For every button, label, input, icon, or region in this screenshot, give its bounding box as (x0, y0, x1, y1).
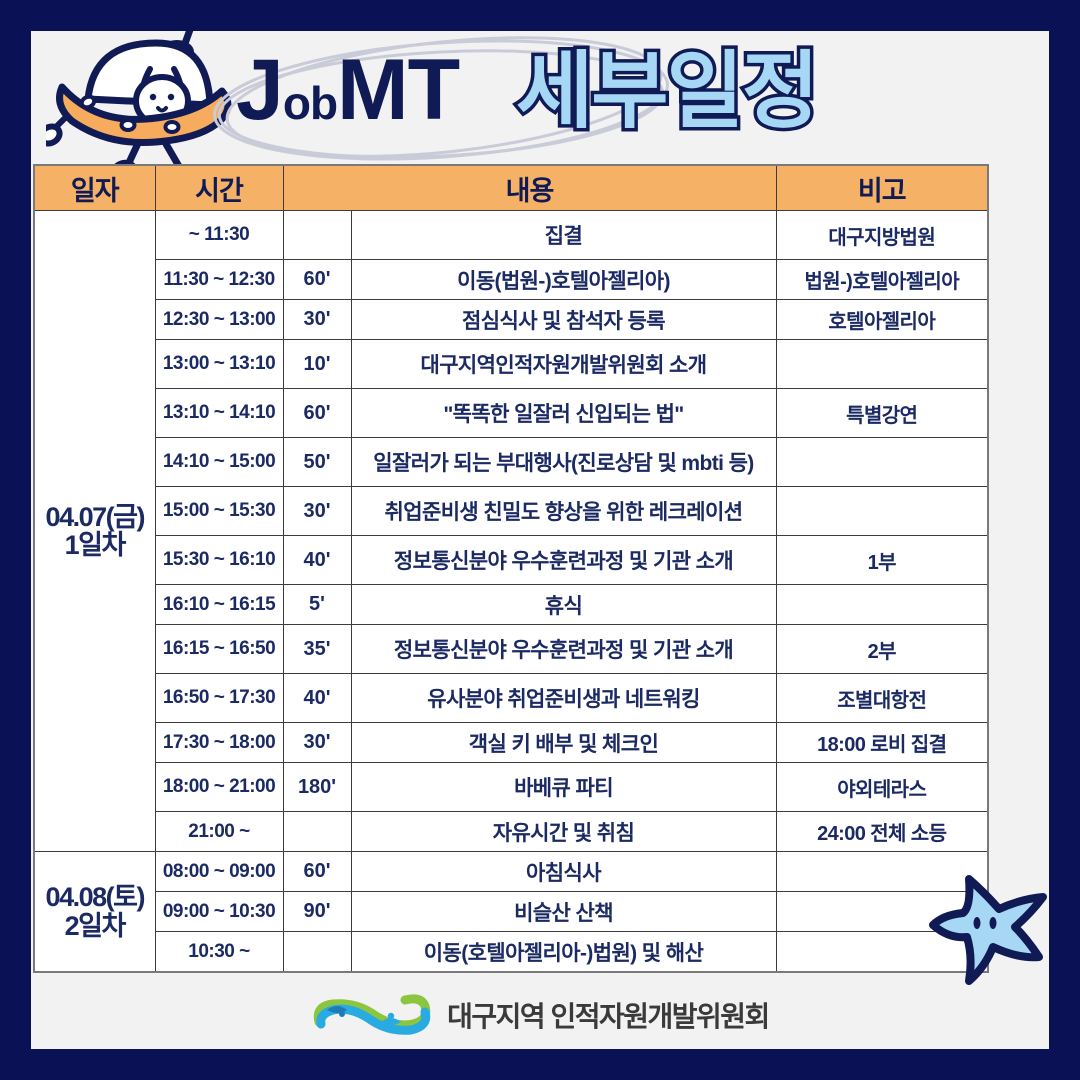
date-line-2: 2일차 (37, 912, 153, 940)
table-row: 10:30 ~이동(호텔아젤리아-)법원) 및 해산 (34, 932, 988, 973)
footer-organization: 대구지역 인적자원개발위원회 (447, 995, 769, 1035)
duration-cell: 40' (283, 674, 351, 723)
content-cell: 자유시간 및 취침 (351, 812, 776, 852)
time-cell: 17:30 ~ 18:00 (155, 723, 283, 763)
content-cell: 취업준비생 친밀도 향상을 위한 레크레이션 (351, 487, 776, 536)
jobmt-ob: ob (283, 77, 337, 129)
jobmt-mt: MT (337, 42, 459, 138)
note-cell: 18:00 로비 집결 (776, 723, 988, 763)
time-cell: 16:10 ~ 16:15 (155, 585, 283, 625)
time-cell: 12:30 ~ 13:00 (155, 300, 283, 340)
content-cell: 집결 (351, 211, 776, 260)
time-cell: ~ 11:30 (155, 211, 283, 260)
poster-root: JobMT 세부일정 일자 시간 내용 비고 04.07(금)1일차~ 1 (0, 0, 1080, 1080)
time-cell: 13:10 ~ 14:10 (155, 389, 283, 438)
date-line-1: 04.08(토) (37, 883, 153, 911)
time-cell: 21:00 ~ (155, 812, 283, 852)
time-cell: 15:00 ~ 15:30 (155, 487, 283, 536)
jobmt-j: J (236, 42, 283, 138)
content-cell: 이동(법원-)호텔아젤리아) (351, 260, 776, 300)
note-cell: 24:00 전체 소등 (776, 812, 988, 852)
note-cell: 호텔아젤리아 (776, 300, 988, 340)
time-cell: 11:30 ~ 12:30 (155, 260, 283, 300)
infinity-logo-icon (311, 992, 433, 1038)
time-cell: 16:50 ~ 17:30 (155, 674, 283, 723)
note-cell (776, 487, 988, 536)
duration-cell: 60' (283, 389, 351, 438)
date-cell: 04.07(금)1일차 (34, 211, 155, 852)
time-cell: 18:00 ~ 21:00 (155, 763, 283, 812)
table-row: 15:30 ~ 16:1040'정보통신분야 우수훈련과정 및 기관 소개1부 (34, 536, 988, 585)
table-row: 14:10 ~ 15:0050'일잘러가 되는 부대행사(진로상담 및 mbti… (34, 438, 988, 487)
content-cell: 정보통신분야 우수훈련과정 및 기관 소개 (351, 625, 776, 674)
duration-cell: 40' (283, 536, 351, 585)
content-cell: 유사분야 취업준비생과 네트워킹 (351, 674, 776, 723)
poster-inner-panel: JobMT 세부일정 일자 시간 내용 비고 04.07(금)1일차~ 1 (31, 31, 1049, 1049)
content-cell: 점심식사 및 참석자 등록 (351, 300, 776, 340)
table-row: 21:00 ~자유시간 및 취침24:00 전체 소등 (34, 812, 988, 852)
duration-cell: 10' (283, 340, 351, 389)
content-cell: 이동(호텔아젤리아-)법원) 및 해산 (351, 932, 776, 973)
time-cell: 13:00 ~ 13:10 (155, 340, 283, 389)
time-cell: 10:30 ~ (155, 932, 283, 973)
note-cell (776, 585, 988, 625)
note-cell: 야외테라스 (776, 763, 988, 812)
time-cell: 15:30 ~ 16:10 (155, 536, 283, 585)
header-content: 내용 (283, 165, 776, 211)
content-cell: 아침식사 (351, 852, 776, 892)
content-cell: 바베큐 파티 (351, 763, 776, 812)
table-row: 09:00 ~ 10:3090'비슬산 산책 (34, 892, 988, 932)
table-row: 16:10 ~ 16:155'휴식 (34, 585, 988, 625)
title-group: JobMT 세부일정 (206, 33, 856, 163)
table-row: 04.07(금)1일차~ 11:30집결대구지방법원 (34, 211, 988, 260)
date-line-1: 04.07(금) (37, 503, 153, 531)
note-cell (776, 340, 988, 389)
header-note: 비고 (776, 165, 988, 211)
content-cell: 객실 키 배부 및 체크인 (351, 723, 776, 763)
note-cell: 2부 (776, 625, 988, 674)
content-cell: 비슬산 산책 (351, 892, 776, 932)
schedule-table-wrap: 일자 시간 내용 비고 04.07(금)1일차~ 11:30집결대구지방법원11… (33, 164, 987, 973)
star-icon (927, 863, 1049, 991)
note-cell (776, 438, 988, 487)
duration-cell: 30' (283, 723, 351, 763)
duration-cell: 60' (283, 260, 351, 300)
time-cell: 09:00 ~ 10:30 (155, 892, 283, 932)
page-title: 세부일정 (516, 49, 817, 133)
poster-header: JobMT 세부일정 (31, 31, 1049, 163)
table-row: 15:00 ~ 15:3030'취업준비생 친밀도 향상을 위한 레크레이션 (34, 487, 988, 536)
content-cell: 정보통신분야 우수훈련과정 및 기관 소개 (351, 536, 776, 585)
header-time: 시간 (155, 165, 283, 211)
duration-cell: 5' (283, 585, 351, 625)
duration-cell: 60' (283, 852, 351, 892)
table-row: 11:30 ~ 12:3060'이동(법원-)호텔아젤리아)법원-)호텔아젤리아 (34, 260, 988, 300)
duration-cell: 35' (283, 625, 351, 674)
table-row: 16:50 ~ 17:3040'유사분야 취업준비생과 네트워킹조별대항전 (34, 674, 988, 723)
time-cell: 08:00 ~ 09:00 (155, 852, 283, 892)
duration-cell: 30' (283, 300, 351, 340)
duration-cell (283, 812, 351, 852)
time-cell: 14:10 ~ 15:00 (155, 438, 283, 487)
duration-cell: 30' (283, 487, 351, 536)
note-cell: 1부 (776, 536, 988, 585)
date-cell: 04.08(토)2일차 (34, 852, 155, 973)
duration-cell (283, 211, 351, 260)
content-cell: 휴식 (351, 585, 776, 625)
date-line-2: 1일차 (37, 531, 153, 559)
note-cell: 특별강연 (776, 389, 988, 438)
note-cell: 대구지방법원 (776, 211, 988, 260)
note-cell: 조별대항전 (776, 674, 988, 723)
table-row: 13:00 ~ 13:1010'대구지역인적자원개발위원회 소개 (34, 340, 988, 389)
table-row: 18:00 ~ 21:00180'바베큐 파티야외테라스 (34, 763, 988, 812)
duration-cell: 180' (283, 763, 351, 812)
duration-cell (283, 932, 351, 973)
table-header-row: 일자 시간 내용 비고 (34, 165, 988, 211)
content-cell: 일잘러가 되는 부대행사(진로상담 및 mbti 등) (351, 438, 776, 487)
table-row: 13:10 ~ 14:1060'"똑똑한 일잘러 신입되는 법"특별강연 (34, 389, 988, 438)
time-cell: 16:15 ~ 16:50 (155, 625, 283, 674)
table-row: 04.08(토)2일차08:00 ~ 09:0060'아침식사 (34, 852, 988, 892)
duration-cell: 50' (283, 438, 351, 487)
content-cell: "똑똑한 일잘러 신입되는 법" (351, 389, 776, 438)
table-row: 16:15 ~ 16:5035'정보통신분야 우수훈련과정 및 기관 소개2부 (34, 625, 988, 674)
schedule-table: 일자 시간 내용 비고 04.07(금)1일차~ 11:30집결대구지방법원11… (33, 164, 989, 973)
poster-footer: 대구지역 인적자원개발위원회 (31, 987, 1049, 1043)
jobmt-wordmark: JobMT (236, 47, 459, 133)
note-cell: 법원-)호텔아젤리아 (776, 260, 988, 300)
content-cell: 대구지역인적자원개발위원회 소개 (351, 340, 776, 389)
table-row: 17:30 ~ 18:0030'객실 키 배부 및 체크인18:00 로비 집결 (34, 723, 988, 763)
duration-cell: 90' (283, 892, 351, 932)
table-row: 12:30 ~ 13:0030'점심식사 및 참석자 등록호텔아젤리아 (34, 300, 988, 340)
header-date: 일자 (34, 165, 155, 211)
